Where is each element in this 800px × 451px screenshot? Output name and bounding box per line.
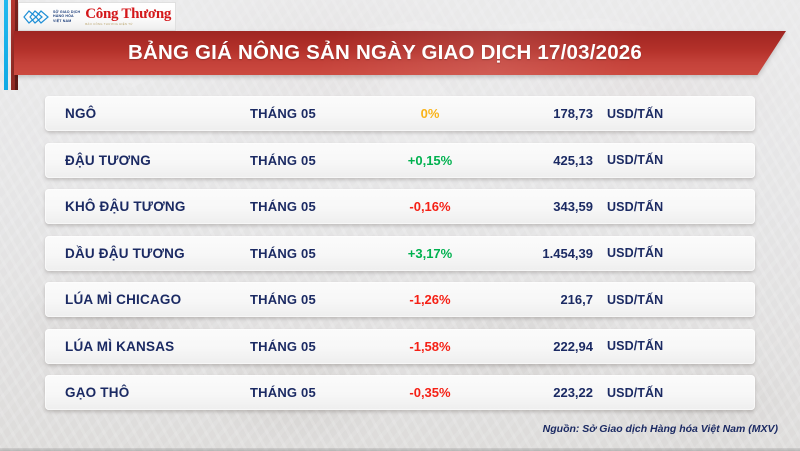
contract-month: THÁNG 05 [250, 199, 316, 214]
price-unit: USD/TẤN [607, 339, 663, 353]
price-value: 343,59 [465, 199, 593, 214]
contract-month: THÁNG 05 [250, 153, 316, 168]
contract-month: THÁNG 05 [250, 385, 316, 400]
price-board-infographic: SỞ GIAO DỊCH HÀNG HÓA VIỆT NAM Công Thươ… [0, 0, 800, 451]
commodity-name: KHÔ ĐẬU TƯƠNG [65, 199, 186, 214]
cong-thuong-name: Công Thương [85, 7, 171, 22]
cong-thuong-logo: Công Thương BÁO CÔNG THƯƠNG ĐIỆN TỬ [85, 7, 171, 26]
mxv-wordmark: SỞ GIAO DỊCH HÀNG HÓA VIỆT NAM [53, 10, 80, 24]
price-unit: USD/TẤN [607, 293, 663, 307]
table-row[interactable]: ĐẬU TƯƠNGTHÁNG 05+0,15%425,13USD/TẤN [45, 143, 755, 178]
price-unit: USD/TẤN [607, 246, 663, 260]
mxv-diamond-logo-icon [22, 7, 50, 27]
commodity-name: NGÔ [65, 106, 96, 121]
price-value: 178,73 [465, 106, 593, 121]
price-value: 216,7 [465, 292, 593, 307]
price-unit: USD/TẤN [607, 107, 663, 121]
price-unit: USD/TẤN [607, 386, 663, 400]
contract-month: THÁNG 05 [250, 339, 316, 354]
table-row[interactable]: GẠO THÔTHÁNG 05-0,35%223,22USD/TẤN [45, 375, 755, 410]
contract-month: THÁNG 05 [250, 106, 316, 121]
price-value: 223,22 [465, 385, 593, 400]
logo-bar: SỞ GIAO DỊCH HÀNG HÓA VIỆT NAM Công Thươ… [18, 2, 176, 31]
contract-month: THÁNG 05 [250, 246, 316, 261]
accent-stripe-cyan [4, 0, 8, 90]
table-row[interactable]: LÚA MÌ KANSASTHÁNG 05-1,58%222,94USD/TẤN [45, 329, 755, 364]
price-value: 222,94 [465, 339, 593, 354]
mxv-line-3: VIỆT NAM [53, 19, 80, 24]
price-unit: USD/TẤN [607, 200, 663, 214]
commodity-name: ĐẬU TƯƠNG [65, 153, 151, 168]
commodity-name: DẦU ĐẬU TƯƠNG [65, 246, 185, 261]
contract-month: THÁNG 05 [250, 292, 316, 307]
price-value: 1.454,39 [465, 246, 593, 261]
source-note: Nguồn: Sở Giao dịch Hàng hóa Việt Nam (M… [543, 423, 778, 435]
table-row[interactable]: KHÔ ĐẬU TƯƠNGTHÁNG 05-0,16%343,59USD/TẤN [45, 189, 755, 224]
price-unit: USD/TẤN [607, 153, 663, 167]
price-table: NGÔTHÁNG 050%178,73USD/TẤNĐẬU TƯƠNGTHÁNG… [45, 96, 755, 422]
commodity-name: GẠO THÔ [65, 385, 129, 400]
table-row[interactable]: LÚA MÌ CHICAGOTHÁNG 05-1,26%216,7USD/TẤN [45, 282, 755, 317]
commodity-name: LÚA MÌ CHICAGO [65, 292, 181, 307]
price-value: 425,13 [465, 153, 593, 168]
commodity-name: LÚA MÌ KANSAS [65, 339, 174, 354]
page-title: BẢNG GIÁ NÔNG SẢN NGÀY GIAO DỊCH 17/03/2… [14, 31, 786, 75]
cong-thuong-subtitle: BÁO CÔNG THƯƠNG ĐIỆN TỬ [85, 23, 133, 26]
table-row[interactable]: DẦU ĐẬU TƯƠNGTHÁNG 05+3,17%1.454,39USD/T… [45, 236, 755, 271]
title-banner: BẢNG GIÁ NÔNG SẢN NGÀY GIAO DỊCH 17/03/2… [14, 31, 786, 75]
table-row[interactable]: NGÔTHÁNG 050%178,73USD/TẤN [45, 96, 755, 131]
